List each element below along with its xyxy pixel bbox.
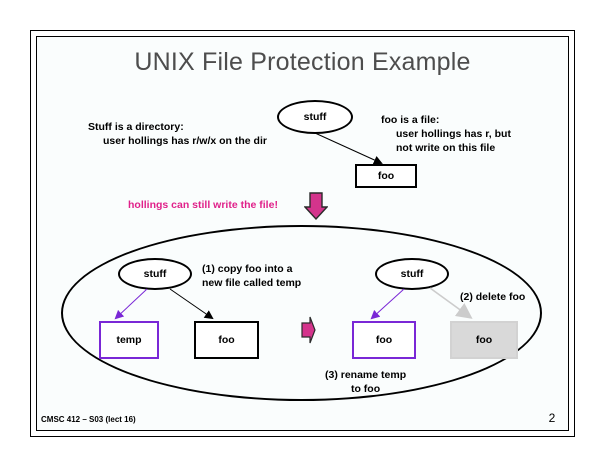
step-1-line2: new file called temp (202, 277, 301, 289)
renamed-foo-node[interactable]: foo (352, 321, 416, 359)
right-block-arrow-icon (300, 314, 316, 346)
slide-canvas: UNIX File Protection Example Stuff is a … (0, 0, 605, 467)
renamed-foo-label: foo (376, 334, 392, 346)
temp-file-label: temp (116, 334, 141, 346)
step-1-line1: (1) copy foo into a (202, 263, 292, 275)
down-block-arrow-icon (304, 192, 328, 220)
top-stuff-directory-label: stuff (304, 111, 327, 123)
bottom-right-stuff-node[interactable]: stuff (375, 258, 449, 290)
step-2-label: (2) delete foo (460, 290, 525, 304)
bottom-left-stuff-label: stuff (144, 268, 167, 280)
temp-file-node[interactable]: temp (99, 321, 159, 359)
hollings-can-write-banner: hollings can still write the file! (128, 199, 278, 211)
step-3-line1: (3) rename temp (325, 369, 406, 381)
foo-file-note-line1: foo is a file: (381, 114, 439, 126)
deleted-foo-label: foo (476, 334, 492, 346)
directory-container-ellipse (61, 225, 542, 401)
foo-file-note-line3: not write on this file (381, 141, 511, 155)
top-foo-file-label: foo (378, 170, 394, 182)
bottom-left-stuff-node[interactable]: stuff (118, 258, 192, 290)
footer-course-label: CMSC 412 – S03 (lect 16) (41, 415, 136, 424)
step-3-label: (3) rename temp to foo (325, 368, 406, 396)
stuff-directory-note-line2: user hollings has r/w/x on the dir (88, 134, 267, 148)
foo-file-note: foo is a file: user hollings has r, but … (381, 113, 511, 155)
bottom-right-stuff-label: stuff (401, 268, 424, 280)
step-3-line2: to foo (351, 383, 380, 395)
stuff-directory-note-line1: Stuff is a directory: (88, 121, 184, 133)
top-foo-file-node[interactable]: foo (355, 164, 417, 188)
bottom-left-foo-label: foo (218, 334, 234, 346)
stuff-directory-note: Stuff is a directory: user hollings has … (88, 120, 267, 148)
page-title: UNIX File Protection Example (0, 48, 605, 77)
step-1-label: (1) copy foo into a new file called temp (202, 262, 301, 290)
deleted-foo-node[interactable]: foo (450, 321, 518, 359)
page-number: 2 (540, 411, 564, 425)
foo-file-note-line2: user hollings has r, but (381, 127, 511, 141)
bottom-left-foo-node[interactable]: foo (194, 321, 259, 359)
top-stuff-directory-node[interactable]: stuff (277, 100, 353, 134)
